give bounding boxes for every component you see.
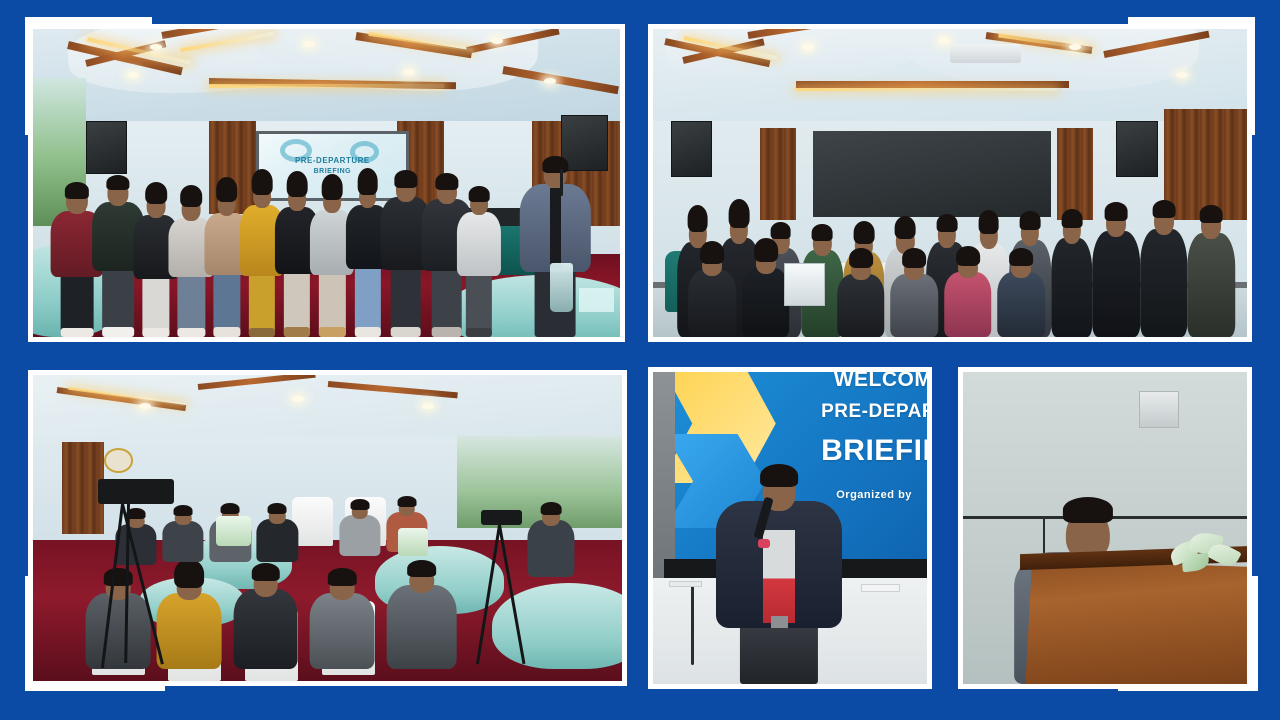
group-member [1188, 174, 1236, 337]
photo-bottom-left-image [33, 375, 622, 681]
ceiling-downlight [403, 69, 415, 75]
photo-top-left: PRE-DEPARTURE BRIEFING [28, 24, 625, 342]
group-member [1093, 171, 1141, 337]
microphone [560, 169, 564, 196]
slide-line-predeparture: PRE-DEPARTURE [821, 401, 927, 423]
photo-top-right [648, 24, 1252, 342]
ceiling-cove-light [209, 84, 444, 87]
podium [1025, 559, 1247, 684]
air-conditioner [950, 44, 1021, 62]
flower-vase [398, 528, 427, 556]
wall-fixture [1139, 391, 1179, 428]
ceiling-cove-light [796, 88, 1057, 91]
wristband [758, 539, 771, 548]
wall-fitting [861, 584, 899, 592]
belt [771, 616, 787, 628]
slide-line-welcome: WELCOME [834, 372, 927, 392]
photo-bottom-right [958, 367, 1252, 689]
group-member-seated [689, 232, 737, 337]
photo-bottom-left [28, 370, 627, 686]
ceiling-downlight [1176, 72, 1188, 78]
audience-member [310, 546, 375, 668]
audience-member [163, 494, 204, 561]
cable [691, 584, 694, 665]
group-member-seated [998, 235, 1046, 337]
group-member [1140, 168, 1188, 337]
chair [292, 497, 333, 546]
slide-line-organizer: Organized by [836, 489, 912, 501]
screen-title-line1: PRE-DEPARTURE [295, 156, 370, 165]
group-member-seated [944, 235, 992, 337]
ceiling-downlight [139, 403, 151, 409]
group-member-seated [742, 229, 790, 337]
ceiling-downlight [422, 403, 434, 409]
audience-member [86, 546, 151, 668]
audience-member [528, 485, 575, 577]
wall-clock [104, 448, 133, 472]
wall-fitting [669, 581, 702, 587]
speaker-shirt [550, 188, 561, 268]
flower-vase [216, 516, 251, 547]
loudspeaker [671, 121, 713, 176]
water-bottle [550, 263, 573, 312]
drinking-glass [597, 288, 615, 313]
video-camera [98, 479, 175, 503]
tote-bag [784, 263, 826, 306]
audience-member [257, 491, 298, 561]
drinking-glass [579, 288, 597, 313]
audience-member [157, 546, 222, 668]
attendee [456, 177, 503, 337]
photo-top-left-image: PRE-DEPARTURE BRIEFING [33, 29, 620, 337]
audience-member [339, 488, 380, 555]
photo-bottom-right-image [963, 372, 1247, 684]
group-member [1051, 177, 1093, 337]
screen-title-line2: BRIEFING [314, 168, 351, 176]
group-member-seated [891, 238, 939, 337]
photo-top-right-image [653, 29, 1247, 337]
presenter [716, 450, 842, 684]
photo-collage: PRE-DEPARTURE BRIEFING [0, 0, 1280, 720]
group-member-seated [837, 238, 885, 337]
photo-bottom-center: WELCOME PRE-DEPARTURE BRIEFING Organized… [648, 367, 932, 689]
photo-bottom-center-image: WELCOME PRE-DEPARTURE BRIEFING Organized… [653, 372, 927, 684]
plant [1168, 528, 1242, 578]
video-camera [481, 510, 522, 525]
